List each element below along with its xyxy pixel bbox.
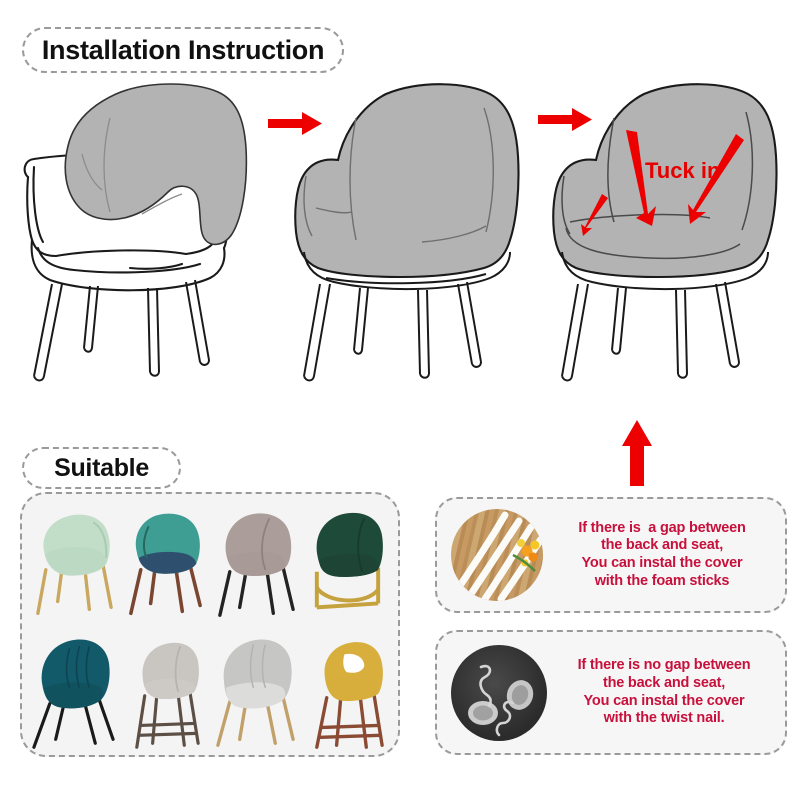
- gallery-item-light-gray-barstool: [119, 628, 210, 757]
- gallery-item-dark-green-gold-chair: [301, 502, 392, 628]
- gallery-item-teal-velvet-armchair: [28, 628, 119, 757]
- note-foam-sticks-text: If there is a gap between the back and s…: [543, 520, 785, 591]
- note-line: If there is a gap between: [545, 520, 779, 538]
- gallery-item-mint-green-armchair: [28, 502, 119, 628]
- page-title: Installation Instruction: [22, 27, 344, 73]
- note-line: with the twist nail.: [549, 710, 779, 728]
- page-title-text: Installation Instruction: [42, 35, 324, 66]
- arrow-up-icon: [620, 418, 654, 488]
- note-line: You can instal the cover: [549, 693, 779, 711]
- note-line: with the foam sticks: [545, 573, 779, 591]
- suitable-label-text: Suitable: [54, 454, 149, 483]
- stool-legs-icon: [317, 695, 382, 746]
- suitable-label: Suitable: [22, 447, 181, 489]
- note-line: If there is no gap between: [549, 657, 779, 675]
- step-3-illustration: [540, 72, 790, 427]
- note-line: the back and seat,: [545, 537, 779, 555]
- note-line: the back and seat,: [549, 675, 779, 693]
- twist-nail-photo: [451, 645, 547, 741]
- note-foam-sticks: If there is a gap between the back and s…: [435, 497, 787, 613]
- gallery-item-gray-wood-armchair: [210, 628, 301, 757]
- gallery-item-taupe-gray-armchair: [210, 502, 301, 628]
- note-twist-nail-text: If there is no gap between the back and …: [547, 657, 785, 728]
- stool-legs-icon: [137, 693, 198, 746]
- chair-gallery: [28, 502, 392, 747]
- foam-sticks-photo: [451, 509, 543, 601]
- note-line: You can instal the cover: [545, 555, 779, 573]
- gallery-item-teal-navy-armchair: [119, 502, 210, 628]
- step-1-illustration: [10, 72, 260, 427]
- step-2-illustration: [282, 72, 532, 427]
- gallery-item-mustard-barstool: [301, 628, 392, 757]
- tuck-in-label: Tuck in: [645, 158, 720, 184]
- note-twist-nail: If there is no gap between the back and …: [435, 630, 787, 755]
- suitable-chairs-panel: [20, 492, 400, 757]
